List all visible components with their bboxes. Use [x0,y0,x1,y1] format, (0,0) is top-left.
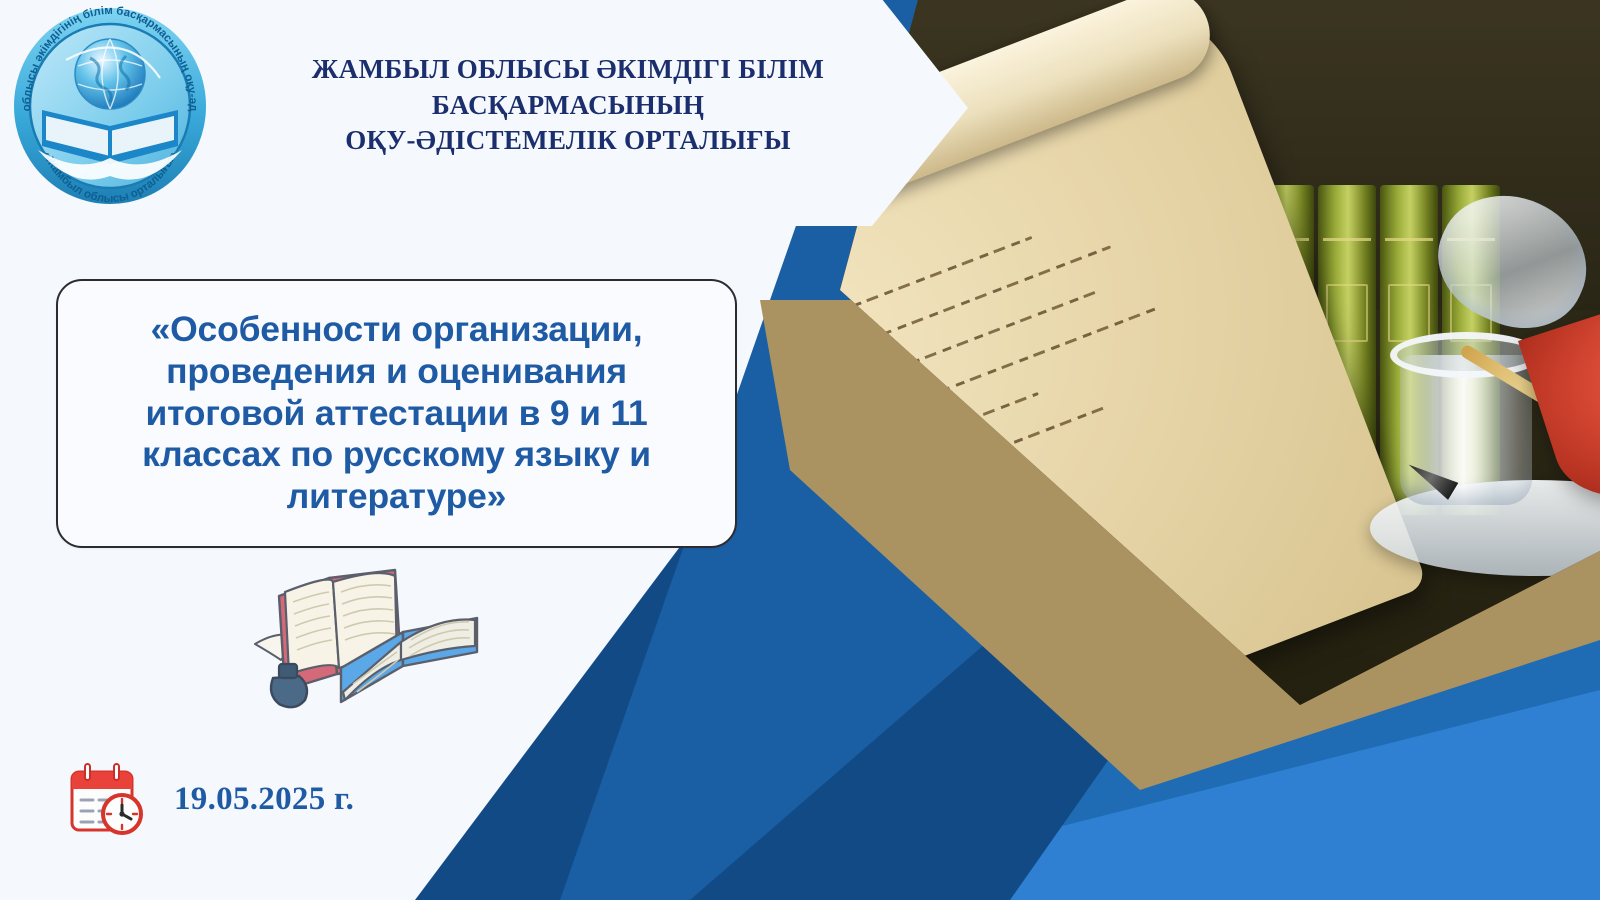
open-books-icon [245,556,515,716]
header-title: ЖАМБЫЛ ОБЛЫСЫ ӘКІМДІГІ БІЛІМ БАСҚАРМАСЫН… [218,52,918,159]
title-line-1: «Особенности организации, [142,309,651,351]
title-line-2: проведения и оценивания [142,351,651,393]
header-line-1: ЖАМБЫЛ ОБЛЫСЫ ӘКІМДІГІ БІЛІМ БАСҚАРМАСЫН… [218,52,918,123]
slide-header: Жамбыл облысы әкімдігінің білім басқарма… [0,0,900,190]
title-line-3: итоговой аттестации в 9 и 11 [142,393,651,435]
ink-pot [271,676,307,707]
presentation-title-card: «Особенности организации, проведения и о… [56,279,737,548]
slide-canvas: А. Пушкинъ [0,0,1600,900]
date-row: 19.05.2025 г. [66,762,354,836]
header-line-2: ОҚУ-ӘДІСТЕМЕЛІК ОРТАЛЫҒЫ [218,123,918,159]
title-line-4: классах по русскому языку и [142,434,651,476]
calendar-clock-icon [66,762,148,836]
presentation-title: «Особенности организации, проведения и о… [142,309,651,518]
organization-logo: Жамбыл облысы әкімдігінің білім басқарма… [8,6,212,206]
presentation-date: 19.05.2025 г. [174,781,354,818]
title-line-5: литературе» [142,476,651,518]
